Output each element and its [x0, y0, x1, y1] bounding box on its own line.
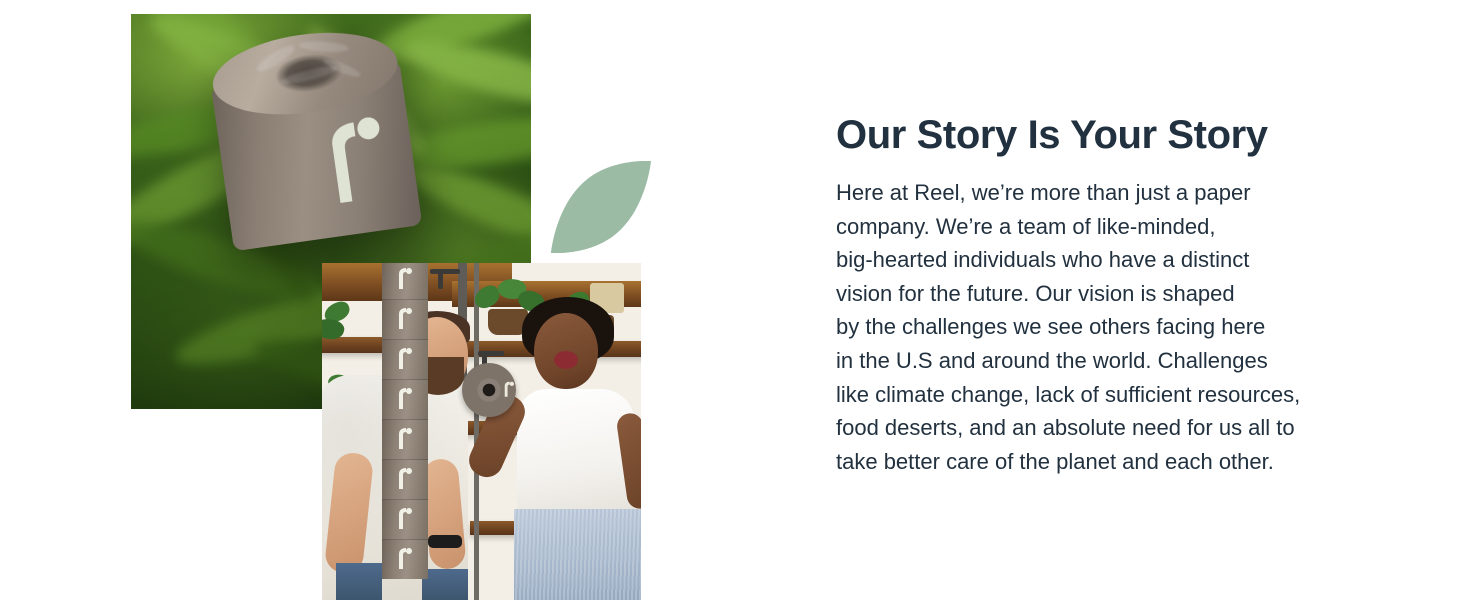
story-paragraph: Here at Reel, we’re more than just a pap…: [836, 176, 1396, 478]
reel-r-logo-icon: [325, 113, 390, 204]
page-title: Our Story Is Your Story: [836, 113, 1268, 157]
photo-team-with-rolls: [322, 263, 641, 600]
woman-mouth: [554, 351, 578, 369]
media-collage: [0, 0, 700, 600]
man-watch: [428, 535, 462, 548]
reel-roll-stack: [382, 263, 428, 600]
woman-skirt: [514, 509, 641, 600]
reel-roll-held: [462, 363, 516, 417]
story-section: Our Story Is Your Story Here at Reel, we…: [0, 0, 1464, 600]
story-line: take better care of the planet and each …: [836, 445, 1396, 479]
story-line: company. We’re a team of like-minded,: [836, 210, 1396, 244]
story-text-column: Our Story Is Your Story Here at Reel, we…: [836, 0, 1396, 600]
man-jeans: [336, 563, 382, 600]
story-line: like climate change, lack of sufficient …: [836, 378, 1396, 412]
story-line: by the challenges we see others facing h…: [836, 310, 1396, 344]
leaf-shape-icon: [551, 161, 651, 253]
reel-r-logo-icon: [504, 381, 514, 397]
woman-top: [517, 389, 635, 517]
man-jeans-right: [422, 569, 468, 600]
story-line: food deserts, and an absolute need for u…: [836, 411, 1396, 445]
story-line: vision for the future. Our vision is sha…: [836, 277, 1396, 311]
reel-toilet-roll: [206, 22, 423, 251]
story-line: Here at Reel, we’re more than just a pap…: [836, 176, 1396, 210]
story-line: in the U.S and around the world. Challen…: [836, 344, 1396, 378]
story-line: big-hearted individuals who have a disti…: [836, 243, 1396, 277]
